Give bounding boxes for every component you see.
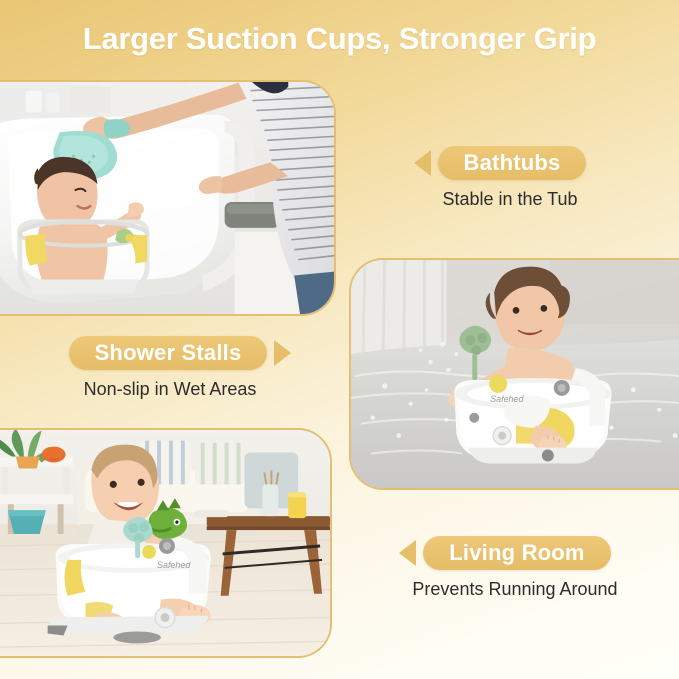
callout-living-room-subtitle: Prevents Running Around xyxy=(412,579,617,600)
callout-bathtubs-label: Bathtubs xyxy=(464,150,561,176)
bathtub-scene xyxy=(0,82,334,314)
callout-bathtubs-row: Bathtubs xyxy=(414,146,587,180)
callout-bathtubs-subtitle: Stable in the Tub xyxy=(442,189,577,210)
bathtub-photo xyxy=(0,80,336,316)
triangle-left-icon xyxy=(414,150,431,176)
callout-living-room: Living Room Prevents Running Around xyxy=(392,536,618,600)
living-room-scene: Safehed xyxy=(0,430,330,656)
living-room-photo: Safehed xyxy=(0,428,332,658)
triangle-left-icon xyxy=(399,540,416,566)
page-title: Larger Suction Cups, Stronger Grip xyxy=(83,21,596,57)
callout-living-room-label: Living Room xyxy=(449,540,584,566)
bathtub-photo-inner xyxy=(0,82,334,314)
shower-scene: Safehed xyxy=(351,260,679,488)
shower-photo: Safehed xyxy=(349,258,679,490)
callout-shower-stalls-subtitle: Non-slip in Wet Areas xyxy=(84,379,257,400)
callout-shower-stalls-pill: Shower Stalls xyxy=(69,336,268,370)
triangle-right-icon xyxy=(274,340,291,366)
callout-shower-stalls-label: Shower Stalls xyxy=(95,340,242,366)
shower-photo-inner: Safehed xyxy=(351,260,679,488)
callout-living-room-row: Living Room xyxy=(399,536,610,570)
header-banner: Larger Suction Cups, Stronger Grip xyxy=(0,0,679,78)
callout-bathtubs-pill: Bathtubs xyxy=(438,146,587,180)
callout-shower-stalls: Shower Stalls Non-slip in Wet Areas xyxy=(64,336,296,400)
product-infographic: Larger Suction Cups, Stronger Grip xyxy=(0,0,679,679)
brand-wordmark: Safehed xyxy=(490,394,524,404)
callout-living-room-pill: Living Room xyxy=(423,536,610,570)
living-room-photo-inner: Safehed xyxy=(0,430,330,656)
callout-shower-stalls-row: Shower Stalls xyxy=(69,336,292,370)
callout-bathtubs: Bathtubs Stable in the Tub xyxy=(392,146,608,210)
brand-wordmark: Safehed xyxy=(157,560,191,570)
